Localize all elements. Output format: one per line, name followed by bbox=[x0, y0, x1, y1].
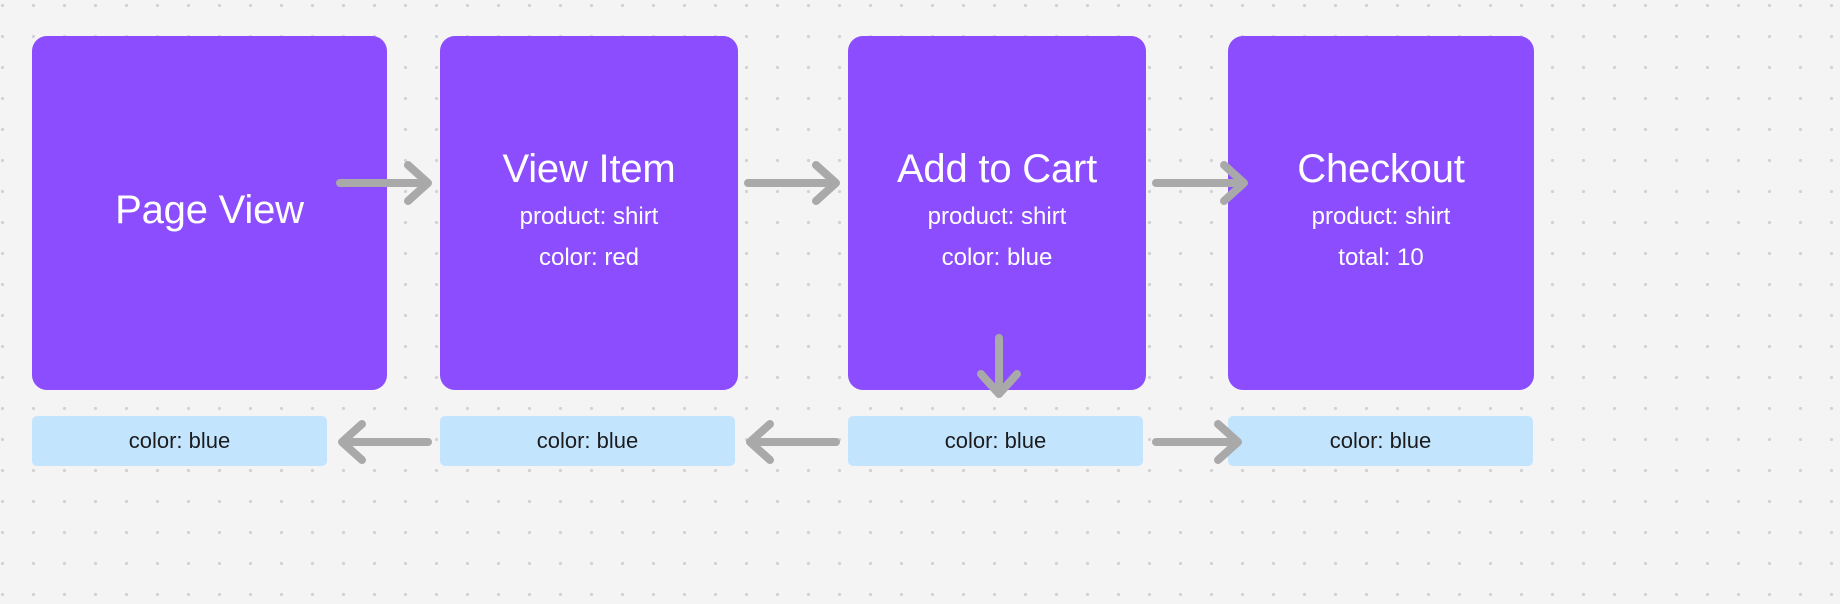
event-property: color: blue bbox=[942, 237, 1053, 278]
event-property: product: shirt bbox=[928, 196, 1067, 237]
property-box-1[interactable]: color: blue bbox=[32, 416, 327, 466]
event-node-properties: product: shirt color: red bbox=[520, 196, 659, 279]
event-node-add-to-cart[interactable]: Add to Cart product: shirt color: blue bbox=[848, 36, 1146, 390]
property-box-label: color: blue bbox=[537, 430, 639, 452]
arrow-left-icon bbox=[336, 420, 432, 464]
property-box-label: color: blue bbox=[1330, 430, 1432, 452]
property-box-3[interactable]: color: blue bbox=[848, 416, 1143, 466]
event-node-properties: product: shirt total: 10 bbox=[1312, 196, 1451, 279]
event-node-page-view[interactable]: Page View bbox=[32, 36, 387, 390]
arrow-left-icon bbox=[744, 420, 840, 464]
event-node-view-item[interactable]: View Item product: shirt color: red bbox=[440, 36, 738, 390]
event-property: color: red bbox=[539, 237, 639, 278]
event-property: product: shirt bbox=[520, 196, 659, 237]
property-box-4[interactable]: color: blue bbox=[1228, 416, 1533, 466]
property-box-label: color: blue bbox=[945, 430, 1047, 452]
event-property: product: shirt bbox=[1312, 196, 1451, 237]
event-node-title: View Item bbox=[502, 148, 675, 190]
event-node-properties: product: shirt color: blue bbox=[928, 196, 1067, 279]
arrow-right-icon bbox=[744, 160, 848, 206]
event-node-checkout[interactable]: Checkout product: shirt total: 10 bbox=[1228, 36, 1534, 390]
event-property: total: 10 bbox=[1338, 237, 1423, 278]
property-box-label: color: blue bbox=[129, 430, 231, 452]
flow-canvas[interactable]: Page View View Item product: shirt color… bbox=[0, 0, 1840, 604]
property-box-2[interactable]: color: blue bbox=[440, 416, 735, 466]
event-node-title: Add to Cart bbox=[897, 148, 1097, 190]
event-node-title: Page View bbox=[115, 189, 304, 231]
event-node-title: Checkout bbox=[1297, 148, 1464, 190]
